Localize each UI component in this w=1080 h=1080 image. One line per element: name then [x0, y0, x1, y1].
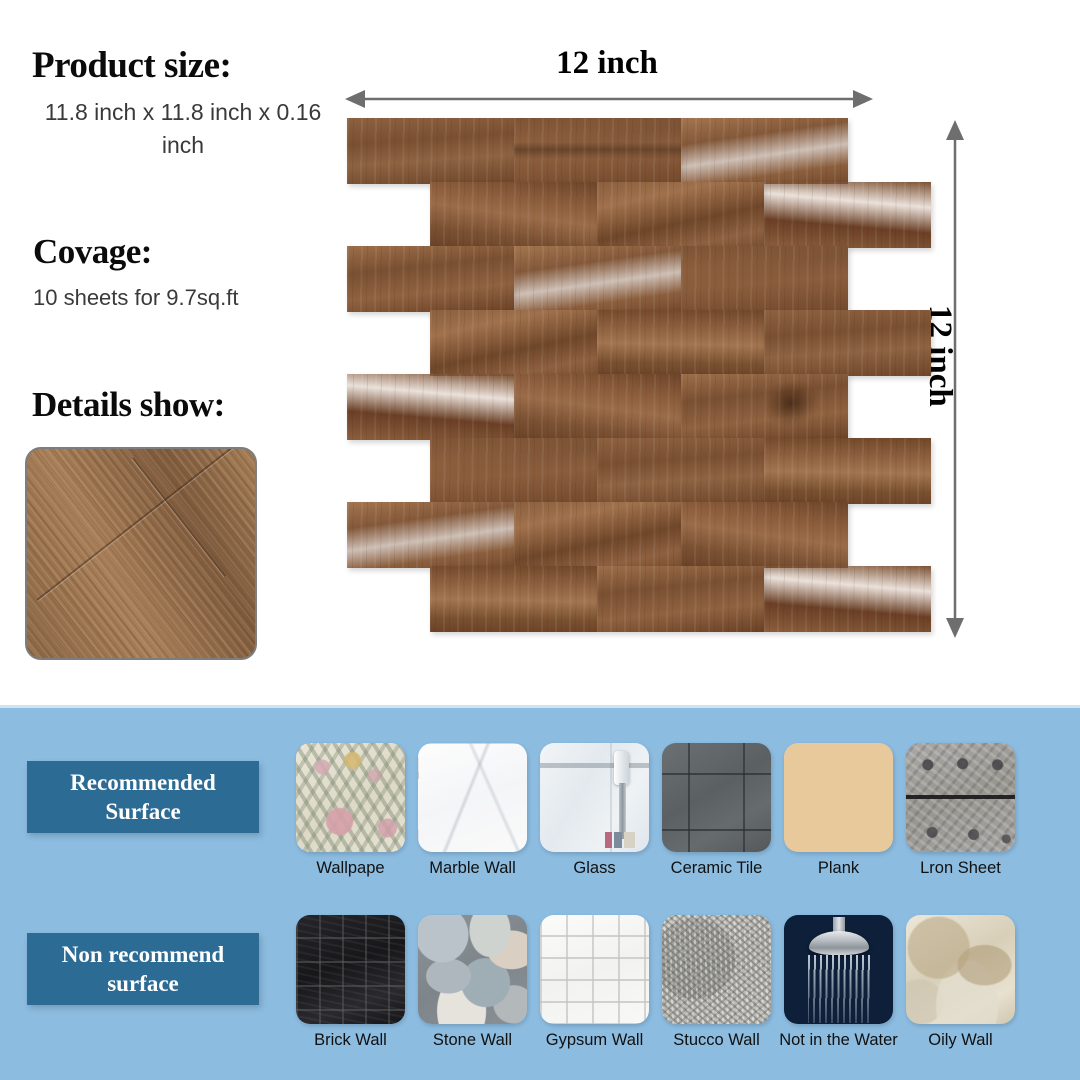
- wood-tile: [514, 118, 681, 184]
- tile-row: [347, 374, 848, 440]
- surface-item-label: Stone Wall: [433, 1031, 512, 1050]
- surface-item-label: Marble Wall: [429, 859, 516, 878]
- width-dimension-label: 12 inch: [342, 45, 872, 82]
- surface-item[interactable]: Glass: [540, 743, 649, 852]
- wood-tile: [430, 310, 597, 376]
- wood-tile: [514, 246, 681, 312]
- surface-item[interactable]: Stone Wall: [418, 915, 527, 1024]
- wood-tile: [681, 374, 848, 440]
- surface-item[interactable]: Lron Sheet: [906, 743, 1015, 852]
- surface-item-label: Lron Sheet: [920, 859, 1001, 878]
- wood-tile: [514, 374, 681, 440]
- wallpaper-swatch: [296, 743, 405, 852]
- recommended-surface-list: WallpapeMarble WallGlassCeramic TilePlan…: [296, 743, 1036, 852]
- surface-item[interactable]: Wallpape: [296, 743, 405, 852]
- wood-tile: [347, 374, 514, 440]
- tile-row: [347, 502, 848, 568]
- tile-row: [430, 566, 931, 632]
- showerhead-icon: [809, 931, 869, 955]
- stone-wall-swatch: [418, 915, 527, 1024]
- black-brick-swatch: [296, 915, 405, 1024]
- wood-grain-texture: [25, 447, 257, 660]
- details-closeup-swatch: [25, 447, 257, 660]
- coverage-title: Covage:: [33, 232, 152, 272]
- gypsum-brick-swatch: [540, 915, 649, 1024]
- recommended-surface-badge: Recommended Surface: [27, 761, 259, 833]
- product-spec-section: Product size: 11.8 inch x 11.8 inch x 0.…: [0, 0, 1080, 705]
- surface-item[interactable]: Oily Wall: [906, 915, 1015, 1024]
- wood-tile: [430, 182, 597, 248]
- tile-row: [347, 118, 848, 184]
- tile-row: [430, 310, 931, 376]
- wood-tile: [681, 118, 848, 184]
- surface-item-label: Wallpape: [316, 859, 384, 878]
- ceramic-tile-swatch: [662, 743, 771, 852]
- surface-item[interactable]: Marble Wall: [418, 743, 527, 852]
- surface-item-label: Oily Wall: [928, 1031, 992, 1050]
- wood-tile: [514, 502, 681, 568]
- stucco-swatch: [662, 915, 771, 1024]
- surface-item[interactable]: Brick Wall: [296, 915, 405, 1024]
- wood-plank-swatch: [784, 743, 893, 852]
- wood-tile: [347, 118, 514, 184]
- wood-tile: [347, 502, 514, 568]
- surface-item[interactable]: Gypsum Wall: [540, 915, 649, 1024]
- iron-sheet-swatch: [906, 743, 1015, 852]
- shower-fixture-icon: [614, 751, 629, 785]
- product-size-value: 11.8 inch x 11.8 inch x 0.16 inch: [38, 96, 328, 162]
- shower-hose-icon: [619, 783, 626, 839]
- wood-tile: [597, 182, 764, 248]
- surface-item-label: Stucco Wall: [673, 1031, 760, 1050]
- wood-tile: [681, 246, 848, 312]
- wood-tile: [347, 246, 514, 312]
- wood-tile: [764, 182, 931, 248]
- wood-tile-panel: [347, 118, 933, 634]
- surface-item-label: Brick Wall: [314, 1031, 387, 1050]
- non-recommended-surface-badge: Non recommend surface: [27, 933, 259, 1005]
- surface-item[interactable]: Plank: [784, 743, 893, 852]
- product-size-title: Product size:: [32, 45, 231, 87]
- width-dimension-arrow: [345, 88, 873, 110]
- surface-item[interactable]: Ceramic Tile: [662, 743, 771, 852]
- surface-item-label: Gypsum Wall: [546, 1031, 644, 1050]
- tile-row: [430, 438, 931, 504]
- wood-tile: [597, 438, 764, 504]
- surface-item[interactable]: Stucco Wall: [662, 915, 771, 1024]
- surface-compatibility-section: Recommended Surface WallpapeMarble WallG…: [0, 705, 1080, 1080]
- wood-tile: [597, 310, 764, 376]
- details-show-title: Details show:: [32, 385, 225, 425]
- tile-row: [430, 182, 931, 248]
- wood-tile: [597, 566, 764, 632]
- marble-swatch: [418, 743, 527, 852]
- glass-shower-swatch: [540, 743, 649, 852]
- toiletry-bottles-icon: [605, 832, 635, 848]
- surface-item-label: Glass: [573, 859, 615, 878]
- oily-wall-swatch: [906, 915, 1015, 1024]
- non-recommended-surface-list: Brick WallStone WallGypsum WallStucco Wa…: [296, 915, 1036, 1024]
- showerhead-water-swatch: [784, 915, 893, 1024]
- info-column: Product size: 11.8 inch x 11.8 inch x 0.…: [0, 0, 330, 705]
- wood-tile: [764, 438, 931, 504]
- water-spray-icon: [808, 955, 870, 1023]
- wood-tile: [764, 310, 931, 376]
- surface-item-label: Not in the Water: [779, 1031, 898, 1050]
- wood-tile: [764, 566, 931, 632]
- wood-tile: [430, 566, 597, 632]
- tile-row: [347, 246, 848, 312]
- surface-item-label: Plank: [818, 859, 859, 878]
- surface-item-label: Ceramic Tile: [671, 859, 763, 878]
- wood-tile: [430, 438, 597, 504]
- wood-tile: [681, 502, 848, 568]
- coverage-value: 10 sheets for 9.7sq.ft: [33, 283, 238, 313]
- surface-item[interactable]: Not in the Water: [784, 915, 893, 1024]
